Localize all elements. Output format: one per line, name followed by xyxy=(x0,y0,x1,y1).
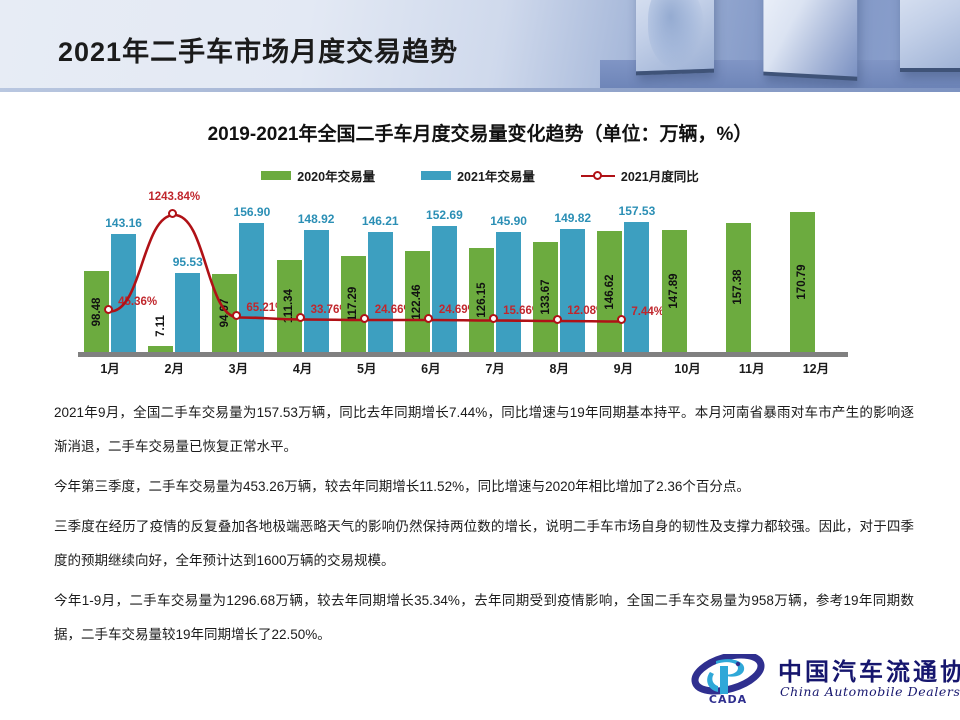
bar-2020-5月: 117.29 xyxy=(341,256,366,352)
bar-2020-label: 98.48 xyxy=(91,297,103,326)
body-paragraph-3: 三季度在经历了疫情的反复叠加各地极端恶略天气的影响仍然保持两位数的增长，说明二手… xyxy=(54,510,914,578)
line-marker-3月 xyxy=(232,311,241,320)
x-axis-tick-11月: 11月 xyxy=(720,358,784,377)
chart-plot-area: 98.48143.1645.36%7.1195.531243.84%94.971… xyxy=(0,190,960,375)
bar-2021-7月 xyxy=(496,232,521,352)
bar-2021-8月 xyxy=(560,229,585,352)
line-marker-8月 xyxy=(553,315,562,324)
x-axis-tick-9月: 9月 xyxy=(591,358,655,377)
bar-2021-value-label: 143.16 xyxy=(98,216,150,230)
yoy-percent-label: 45.36% xyxy=(118,296,157,308)
bar-2020-7月: 126.15 xyxy=(469,248,494,352)
bar-2020-label: 170.79 xyxy=(796,264,808,299)
x-axis-tick-3月: 3月 xyxy=(206,358,270,377)
line-marker-4月 xyxy=(296,313,305,322)
bar-2021-2月 xyxy=(175,273,200,352)
legend-swatch-line-icon xyxy=(581,171,615,181)
line-marker-7月 xyxy=(489,314,498,323)
x-axis-tick-7月: 7月 xyxy=(463,358,527,377)
cada-logo: CADA 中国汽车流通协会 China Automobile Dealers A… xyxy=(686,652,954,710)
legend-label-2020: 2020年交易量 xyxy=(297,166,375,185)
legend-label-2021: 2021年交易量 xyxy=(457,166,535,185)
bar-2020-9月: 146.62 xyxy=(597,231,622,352)
logo-name-en: China Automobile Dealers Association xyxy=(780,684,960,699)
bar-2020-label: 157.38 xyxy=(732,270,744,305)
slide-root: 2021年二手车市场月度交易趋势 2019-2021年全国二手车月度交易量变化趋… xyxy=(0,0,960,720)
bar-2020-11月: 157.38 xyxy=(726,223,751,352)
bar-2020-label: 147.89 xyxy=(668,274,680,309)
legend-label-yoy: 2021月度同比 xyxy=(621,166,699,185)
cada-emblem-icon: CADA xyxy=(686,654,770,704)
bar-2021-5月 xyxy=(368,232,393,352)
bar-2020-4月: 111.34 xyxy=(277,260,302,352)
body-paragraph-4: 今年1-9月，二手车交易量为1296.68万辆，较去年同期增长35.34%，去年… xyxy=(54,584,914,652)
bar-2020-label: 7.11 xyxy=(155,315,167,337)
bar-2021-value-label: 152.69 xyxy=(418,208,470,222)
line-marker-1月 xyxy=(104,305,113,314)
x-axis-tick-5月: 5月 xyxy=(335,358,399,377)
bar-2021-value-label: 145.90 xyxy=(483,214,535,228)
x-axis-tick-4月: 4月 xyxy=(271,358,335,377)
legend-item-2021[interactable]: 2021年交易量 xyxy=(421,166,535,185)
legend-swatch-green-icon xyxy=(261,171,291,180)
chart-baseline-axis xyxy=(78,352,848,357)
chart-legend: 2020年交易量 2021年交易量 2021月度同比 xyxy=(0,166,960,185)
logo-name-cn: 中国汽车流通协会 xyxy=(778,652,960,687)
bar-2020-8月: 133.67 xyxy=(533,242,558,352)
bar-2021-value-label: 95.53 xyxy=(162,255,214,269)
bar-2021-6月 xyxy=(432,226,457,352)
bar-2020-12月: 170.79 xyxy=(790,212,815,352)
bar-2021-value-label: 157.53 xyxy=(611,204,663,218)
line-marker-2月 xyxy=(168,209,177,218)
header-divider xyxy=(0,88,960,92)
bar-2020-label: 133.67 xyxy=(540,279,552,314)
svg-text:CADA: CADA xyxy=(709,693,747,704)
yoy-percent-label: 7.44% xyxy=(631,306,664,318)
x-axis-tick-8月: 8月 xyxy=(527,358,591,377)
bar-2020-6月: 122.46 xyxy=(405,251,430,352)
bar-2020-label: 94.97 xyxy=(219,299,231,328)
bar-2021-value-label: 148.92 xyxy=(290,212,342,226)
bar-2020-label: 122.46 xyxy=(411,284,423,319)
legend-item-yoy[interactable]: 2021月度同比 xyxy=(581,166,699,185)
bar-2020-label: 111.34 xyxy=(283,289,295,323)
line-marker-9月 xyxy=(617,315,626,324)
header-cube-decor-3 xyxy=(900,0,960,72)
chart-title: 2019-2021年全国二手车月度交易量变化趋势（单位：万辆，%） xyxy=(0,119,960,146)
slide-header: 2021年二手车市场月度交易趋势 xyxy=(0,0,960,88)
chart-x-axis-labels: 1月2月3月4月5月6月7月8月9月10月11月12月 xyxy=(0,358,960,380)
bar-2021-value-label: 146.21 xyxy=(354,214,406,228)
bar-2021-1月 xyxy=(111,234,136,352)
bar-2020-label: 146.62 xyxy=(604,274,616,309)
x-axis-tick-6月: 6月 xyxy=(399,358,463,377)
header-cube-decor-2 xyxy=(763,0,857,81)
body-text-block: 2021年9月，全国二手车交易量为157.53万辆，同比去年同期增长7.44%，… xyxy=(54,396,914,658)
x-axis-tick-12月: 12月 xyxy=(784,358,848,377)
page-title: 2021年二手车市场月度交易趋势 xyxy=(58,30,458,69)
bar-2021-value-label: 149.82 xyxy=(547,211,599,225)
body-paragraph-2: 今年第三季度，二手车交易量为453.26万辆，较去年同期增长11.52%，同比增… xyxy=(54,470,914,504)
yoy-percent-label: 1243.84% xyxy=(138,191,210,203)
bar-2021-3月 xyxy=(239,223,264,352)
bar-2020-10月: 147.89 xyxy=(662,230,687,352)
line-marker-5月 xyxy=(360,314,369,323)
x-axis-tick-1月: 1月 xyxy=(78,358,142,377)
x-axis-tick-2月: 2月 xyxy=(142,358,206,377)
body-paragraph-1: 2021年9月，全国二手车交易量为157.53万辆，同比去年同期增长7.44%，… xyxy=(54,396,914,464)
line-marker-6月 xyxy=(424,314,433,323)
x-axis-tick-10月: 10月 xyxy=(656,358,720,377)
legend-item-2020[interactable]: 2020年交易量 xyxy=(261,166,375,185)
bar-2020-label: 126.15 xyxy=(476,283,488,318)
bar-2021-4月 xyxy=(304,230,329,352)
legend-swatch-blue-icon xyxy=(421,171,451,180)
bar-2021-value-label: 156.90 xyxy=(226,205,278,219)
bar-2020-label: 117.29 xyxy=(347,286,359,321)
bar-2021-9月 xyxy=(624,222,649,352)
